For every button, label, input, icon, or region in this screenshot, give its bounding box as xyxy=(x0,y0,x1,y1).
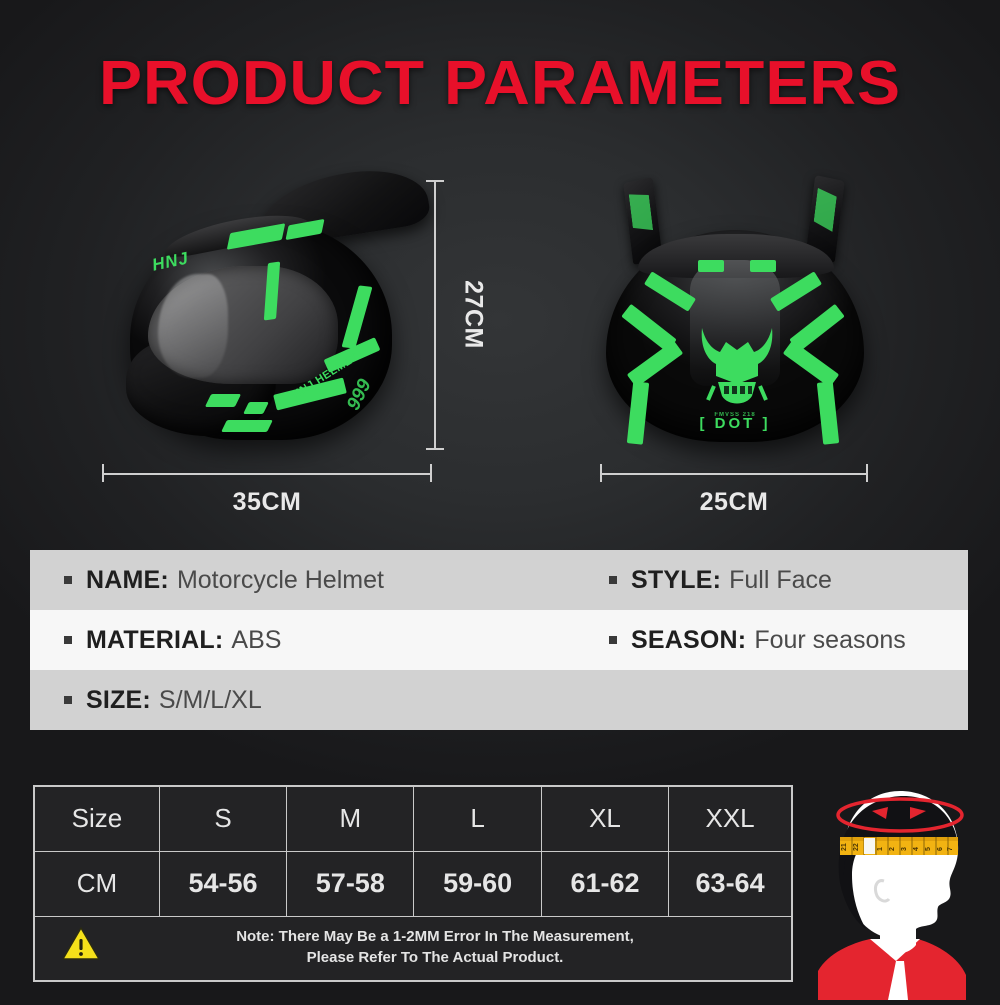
svg-text:5: 5 xyxy=(925,847,932,851)
spec-key: STYLE: xyxy=(631,566,721,595)
table-cell-cm-l: 59-60 xyxy=(414,851,541,916)
warning-triangle-icon xyxy=(61,926,101,969)
table-cell-cm-m: 57-58 xyxy=(287,851,414,916)
note-line-1: Note: There May Be a 1-2MM Error In The … xyxy=(236,928,634,945)
dimension-tick-left xyxy=(102,464,104,482)
size-chart-table: Size S M L XL XXL CM 54-56 57-58 59-60 6… xyxy=(33,785,793,982)
table-cell-size-l: L xyxy=(414,786,541,851)
spec-value: Full Face xyxy=(729,566,832,595)
dimension-label-rear-width: 25CM xyxy=(600,488,868,517)
spec-item-name: NAME: Motorcycle Helmet xyxy=(64,566,609,595)
svg-text:1: 1 xyxy=(877,847,884,851)
helmet-rear-view: FMVSS 218 [ DOT ] xyxy=(592,168,882,468)
spec-key: SEASON: xyxy=(631,626,746,655)
table-row-header: Size S M L XL XXL xyxy=(34,786,792,851)
table-cell-cm-xxl: 63-64 xyxy=(669,851,792,916)
dimension-tick-top xyxy=(426,180,444,182)
dimension-line-rear-width xyxy=(600,473,868,475)
svg-text:6: 6 xyxy=(937,847,944,851)
table-cell-size-m: M xyxy=(287,786,414,851)
bullet-icon xyxy=(64,636,72,644)
note-line-2: Please Refer To The Actual Product. xyxy=(307,949,564,966)
spec-item-size: SIZE: S/M/L/XL xyxy=(64,686,609,715)
dot-certification: FMVSS 218 [ DOT ] xyxy=(592,412,878,432)
bullet-icon xyxy=(64,576,72,584)
bullet-icon xyxy=(64,696,72,704)
table-cell-cm-label: CM xyxy=(34,851,159,916)
dimension-tick-left xyxy=(600,464,602,482)
page-title: PRODUCT PARAMETERS xyxy=(0,48,1000,119)
dimension-tick-right xyxy=(430,464,432,482)
samurai-mask-icon xyxy=(696,326,778,414)
spec-key: SIZE: xyxy=(86,686,151,715)
table-row-cm: CM 54-56 57-58 59-60 61-62 63-64 xyxy=(34,851,792,916)
fmvss-label: FMVSS 218 xyxy=(592,412,878,418)
dimension-label-height: 27CM xyxy=(459,280,488,350)
spec-value: Four seasons xyxy=(754,626,905,655)
product-image-stage: HNJ HNJ HELMET 999 xyxy=(0,160,1000,550)
table-cell-cm-xl: 61-62 xyxy=(541,851,668,916)
table-cell-size-xl: XL xyxy=(541,786,668,851)
helmet-side-green-stripe xyxy=(221,420,273,432)
spec-key: NAME: xyxy=(86,566,169,595)
head-measurement-illustration: 21 22 1 2 3 4 5 6 7 xyxy=(800,775,1000,1000)
note-cell: Note: There May Be a 1-2MM Error In The … xyxy=(34,916,792,981)
helmet-rear-green-stripe xyxy=(750,260,776,272)
bullet-icon xyxy=(609,636,617,644)
svg-text:21: 21 xyxy=(841,843,848,851)
spec-item-material: MATERIAL: ABS xyxy=(64,626,609,655)
dimension-tick-right xyxy=(866,464,868,482)
helmet-side-green-stripe xyxy=(205,394,241,407)
svg-text:4: 4 xyxy=(913,847,920,851)
note-text: Note: There May Be a 1-2MM Error In The … xyxy=(111,926,781,970)
dimension-tick-bottom xyxy=(426,448,444,450)
spec-value: ABS xyxy=(231,626,281,655)
helmet-rear-green-stripe xyxy=(698,260,724,272)
spec-key: MATERIAL: xyxy=(86,626,223,655)
dimension-label-side-width: 35CM xyxy=(102,488,432,517)
spec-row-name-style: NAME: Motorcycle Helmet STYLE: Full Face xyxy=(30,550,968,610)
svg-text:2: 2 xyxy=(889,847,896,851)
spec-row-size: SIZE: S/M/L/XL xyxy=(30,670,968,730)
table-cell-size-xxl: XXL xyxy=(669,786,792,851)
table-cell-size-label: Size xyxy=(34,786,159,851)
svg-text:22: 22 xyxy=(853,843,860,851)
svg-text:3: 3 xyxy=(901,847,908,851)
spec-value: Motorcycle Helmet xyxy=(177,566,384,595)
spec-row-material-season: MATERIAL: ABS SEASON: Four seasons xyxy=(30,610,968,670)
bullet-icon xyxy=(609,576,617,584)
spec-item-season: SEASON: Four seasons xyxy=(609,626,906,655)
spec-item-style: STYLE: Full Face xyxy=(609,566,832,595)
dimension-line-side-width xyxy=(102,473,432,475)
table-row-note: Note: There May Be a 1-2MM Error In The … xyxy=(34,916,792,981)
specification-list: NAME: Motorcycle Helmet STYLE: Full Face… xyxy=(30,550,968,730)
table-cell-size-s: S xyxy=(159,786,286,851)
spec-value: S/M/L/XL xyxy=(159,686,262,715)
dimension-line-height xyxy=(434,180,436,450)
infographic-page: PRODUCT PARAMETERS HNJ HNJ HELMET 999 xyxy=(0,0,1000,1000)
helmet-side-view: HNJ HNJ HELMET 999 xyxy=(112,170,422,460)
measuring-tape: 21 22 1 2 3 4 5 6 7 xyxy=(840,837,958,855)
table-cell-cm-s: 54-56 xyxy=(159,851,286,916)
